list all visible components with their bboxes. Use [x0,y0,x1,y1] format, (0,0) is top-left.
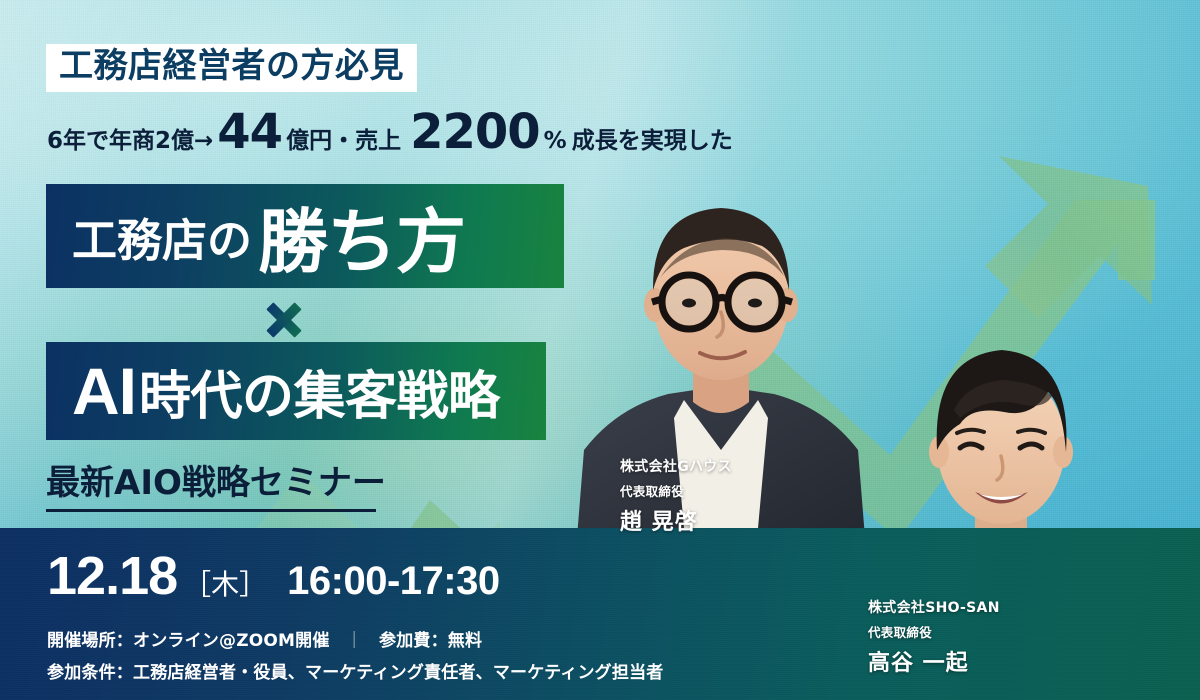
speaker-company-takaya: 株式会社SHO-SAN [868,597,1000,617]
speaker-role-cho: 代表取締役 [620,481,732,500]
event-audience-row: 参加条件：工務店経営者・役員、マーケティング責任者、マーケティング担当者 [47,658,663,683]
results-subheadline: 6年で年商2億→ 44 億円・売上 2200 % 成長を実現した [47,104,733,160]
event-day-of-week: ［木］ [183,563,267,603]
seminar-banner: 工務店経営者の方必見 6年で年商2億→ 44 億円・売上 2200 % 成長を実… [0,0,1200,700]
speaker-name-takaya: 高谷 一起 [868,645,1000,677]
subhead-lead: 6年で年商2億→ [47,121,213,155]
speaker-caption-takaya: 株式会社SHO-SAN 代表取締役 高谷 一起 [868,597,1000,677]
title-2-emphasis: AI [72,353,136,429]
subhead-mid: 億円・売上 [286,121,401,155]
event-venue-separator: ｜ [336,626,373,651]
title-block-secondary: AI 時代の集客戦略 [46,342,546,440]
subhead-percent: % [544,128,567,154]
event-fee: 参加費：無料 [379,631,482,651]
title-2-normal: 時代の集客戦略 [139,354,500,429]
seminar-subtitle: 最新AIO戦略セミナー [46,455,386,512]
event-venue-row: 開催場所：オンライン@ZOOM開催 ｜ 参加費：無料 [47,626,482,651]
event-audience: 参加条件：工務店経営者・役員、マーケティング責任者、マーケティング担当者 [47,663,663,683]
speaker-company-cho: 株式会社Gハウス [620,456,732,476]
audience-badge: 工務店経営者の方必見 [46,44,417,92]
subhead-tail: 成長を実現した [572,121,733,155]
subhead-number-2: 2200 [406,104,544,160]
subhead-number-1: 44 [213,104,286,160]
speaker-name-cho: 趙 晃啓 [620,504,732,536]
speaker-role-takaya: 代表取締役 [868,622,1000,641]
title-1-emphasis: 勝ち方 [258,186,465,287]
event-date: 12.18 [47,545,177,607]
speaker-caption-cho: 株式会社Gハウス 代表取締役 趙 晃啓 [620,456,732,536]
seminar-subtitle-underline [46,509,376,512]
audience-badge-label: 工務店経営者の方必見 [59,49,404,85]
title-block-primary: 工務店の 勝ち方 [46,184,564,288]
cross-icon [263,299,305,341]
event-datetime: 12.18 ［木］ 16:00-17:30 [47,545,500,607]
event-venue: 開催場所：オンライン@ZOOM開催 [47,631,330,651]
title-1-normal: 工務店の [72,204,252,269]
seminar-subtitle-label: 最新AIO戦略セミナー [46,455,386,504]
event-time: 16:00-17:30 [287,559,499,604]
